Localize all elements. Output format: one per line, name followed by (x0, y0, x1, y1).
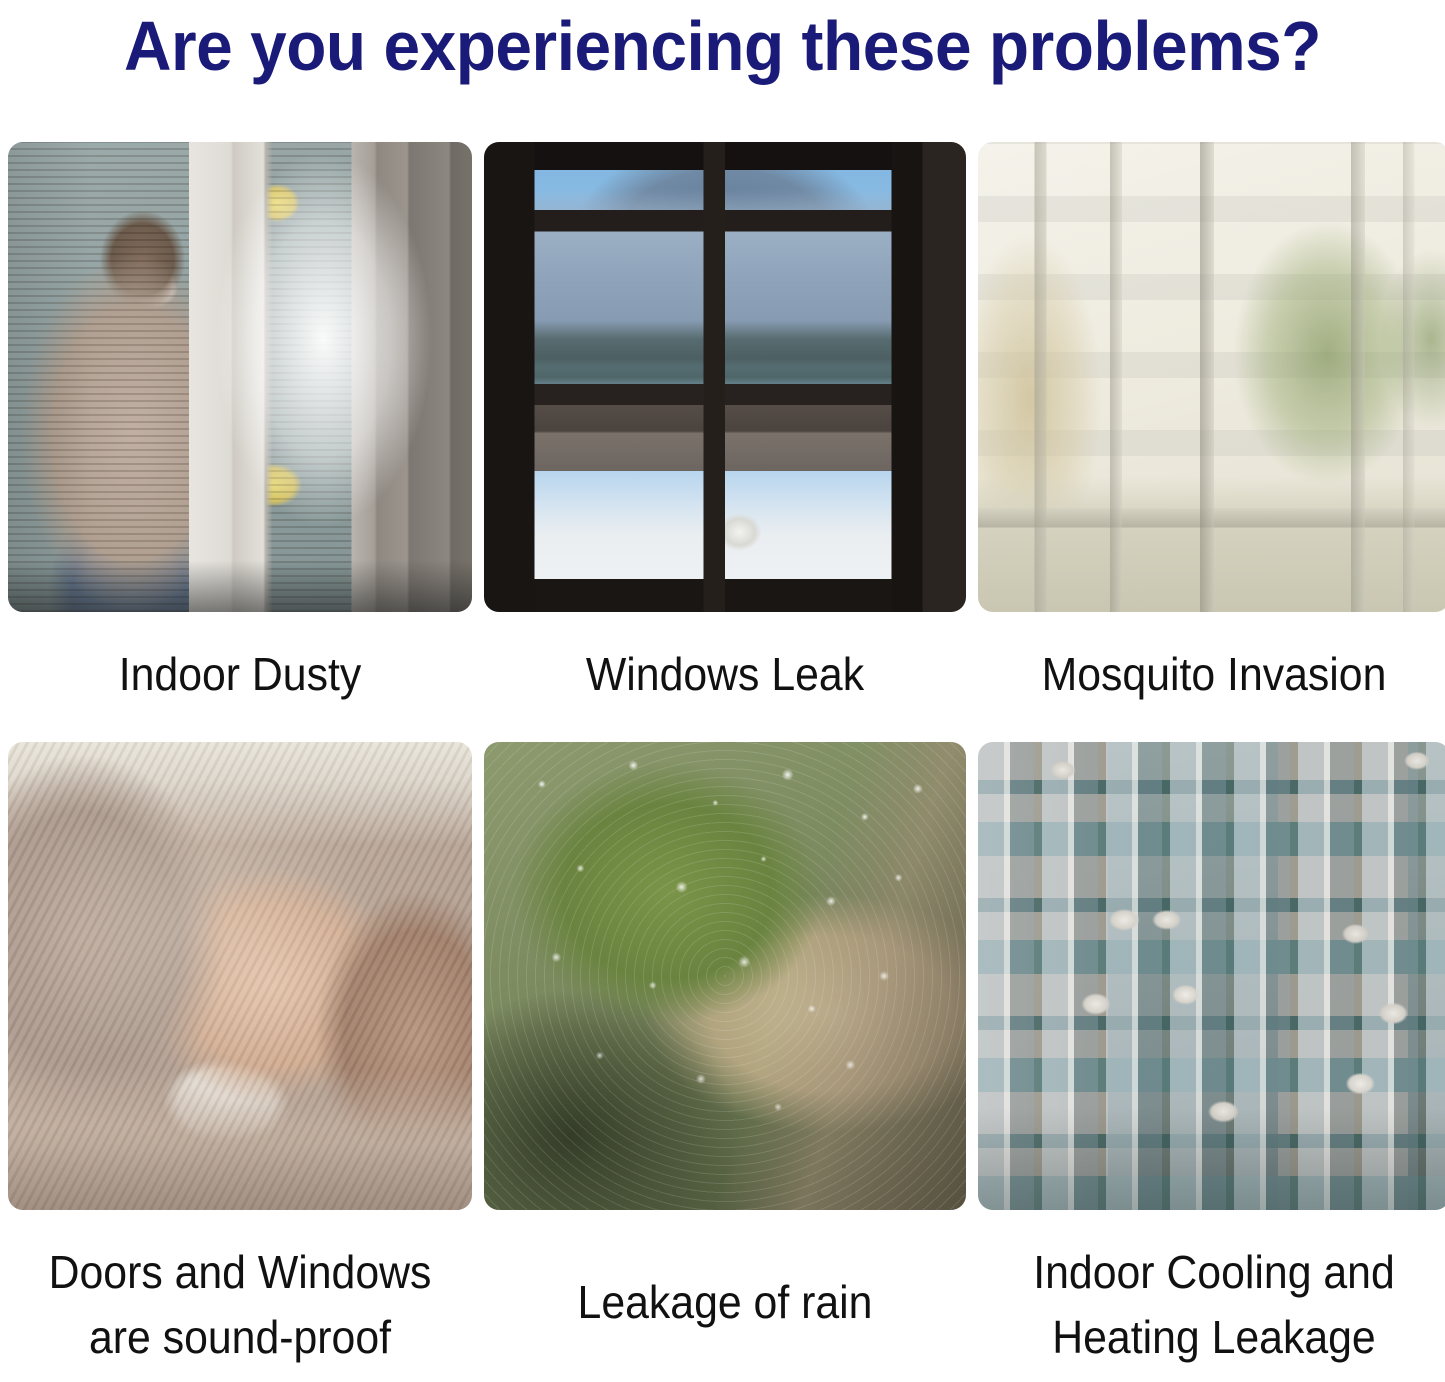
caption-indoor-cooling-heating-leakage: Indoor Cooling and Heating Leakage (995, 1218, 1434, 1338)
page-title: Are you experiencing these problems? (43, 0, 1401, 92)
caption-mosquito-invasion: Mosquito Invasion (995, 620, 1434, 740)
problem-card-indoor-dusty: Indoor Dusty (8, 142, 472, 742)
photo-indoor-dusty (8, 142, 472, 612)
caption-indoor-dusty: Indoor Dusty (24, 620, 456, 740)
problems-grid: Indoor Dusty Windows Leak Mosquito Invas… (8, 142, 1438, 1342)
photo-leakage-of-rain (484, 742, 966, 1210)
caption-windows-leak: Windows Leak (501, 620, 949, 740)
problem-card-windows-leak: Windows Leak (484, 142, 966, 742)
photo-doors-windows-sound-proof (8, 742, 472, 1210)
caption-doors-windows-sound-proof: Doors and Windows are sound-proof (24, 1218, 456, 1338)
problem-card-indoor-cooling-heating-leakage: Indoor Cooling and Heating Leakage (978, 742, 1445, 1342)
problem-card-doors-windows-sound-proof: Doors and Windows are sound-proof (8, 742, 472, 1342)
infographic-page: Are you experiencing these problems? Ind… (0, 0, 1445, 1382)
photo-mosquito-invasion (978, 142, 1445, 612)
photo-windows-leak (484, 142, 966, 612)
caption-leakage-of-rain: Leakage of rain (501, 1218, 949, 1338)
problem-card-leakage-of-rain: Leakage of rain (484, 742, 966, 1342)
problem-card-mosquito-invasion: Mosquito Invasion (978, 142, 1445, 742)
photo-indoor-cooling-heating-leakage (978, 742, 1445, 1210)
